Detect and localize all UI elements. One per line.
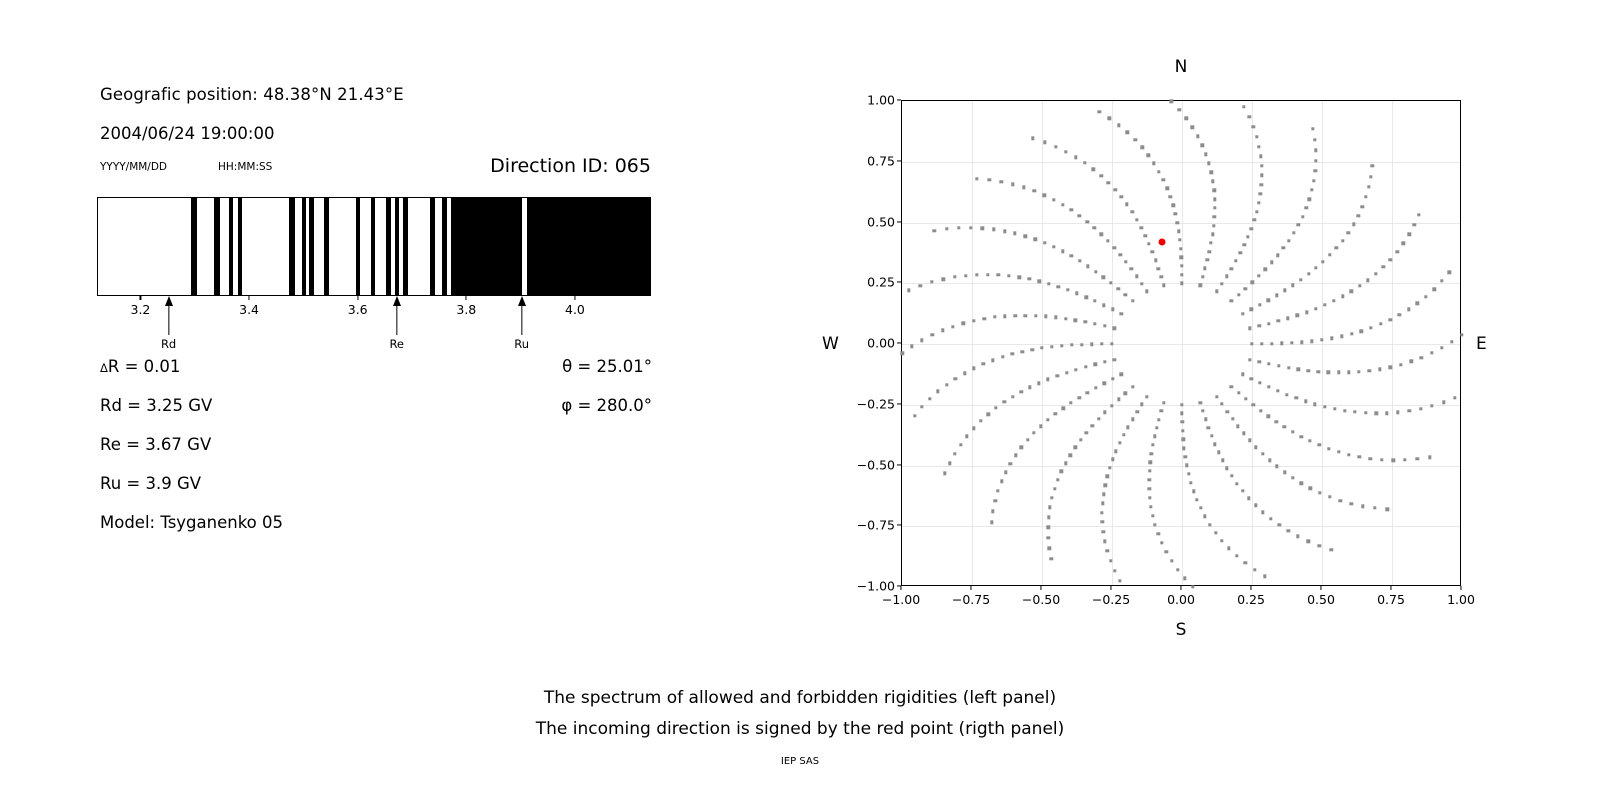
param-model: Model: Tsyganenko 05 <box>100 513 283 532</box>
direction-dot <box>1052 245 1055 248</box>
direction-dot <box>1140 282 1143 285</box>
direction-dot <box>1183 577 1186 580</box>
direction-dot <box>1070 343 1073 346</box>
direction-dot <box>1185 117 1188 120</box>
direction-dot <box>1028 386 1031 389</box>
direction-dot <box>1314 266 1317 269</box>
direction-dot <box>1314 169 1317 172</box>
direction-dot <box>1236 424 1239 427</box>
direction-dot <box>1250 377 1253 380</box>
arrow-shaft <box>168 305 169 335</box>
direction-dot <box>1170 99 1173 102</box>
direction-dot <box>1212 189 1215 192</box>
direction-dot <box>1270 342 1273 345</box>
direction-dot <box>1106 239 1109 242</box>
direction-dot <box>1337 450 1340 453</box>
direction-dot <box>1314 307 1317 310</box>
direction-dot <box>1239 251 1242 254</box>
direction-dot <box>1430 404 1433 407</box>
direction-dot <box>1102 382 1105 385</box>
direction-dot <box>994 406 997 409</box>
direction-dot <box>1307 369 1310 372</box>
direction-dot <box>1416 302 1419 305</box>
direction-dot <box>1148 487 1151 490</box>
direction-dot <box>1450 340 1453 343</box>
direction-dot <box>1208 523 1211 526</box>
direction-dot <box>1177 230 1180 233</box>
direction-dot <box>1069 401 1072 404</box>
direction-dot <box>1307 540 1310 543</box>
direction-map-y-tick-mark <box>897 403 901 404</box>
direction-dot <box>1250 342 1253 345</box>
direction-dot <box>969 226 972 229</box>
direction-dot <box>1176 221 1179 224</box>
direction-dot <box>1366 278 1369 281</box>
direction-dot <box>1111 308 1114 311</box>
direction-dot <box>1327 447 1330 450</box>
direction-dot <box>1165 187 1168 190</box>
direction-dot <box>1299 278 1302 281</box>
direction-dot <box>913 414 916 417</box>
direction-dot <box>1396 250 1399 253</box>
direction-dot <box>1389 258 1392 261</box>
direction-dot <box>972 319 975 322</box>
direction-dot <box>945 227 948 230</box>
direction-dot <box>1180 256 1183 259</box>
gridline-horizontal <box>902 344 1460 345</box>
direction-dot <box>1329 548 1332 551</box>
direction-dot <box>1114 449 1117 452</box>
direction-dot <box>1297 223 1300 226</box>
figure-canvas: Geografic position: 48.38°N 21.43°E 2004… <box>0 0 1600 800</box>
forbidden-band <box>430 198 434 295</box>
direction-map-y-tick-label: −0.25 <box>840 396 895 411</box>
direction-dot <box>1358 284 1361 287</box>
direction-dot <box>1261 452 1264 455</box>
direction-dot <box>1286 317 1289 320</box>
direction-dot <box>1183 455 1186 458</box>
direction-dot <box>1246 235 1249 238</box>
direction-dot <box>1318 544 1321 547</box>
direction-dot <box>1382 265 1385 268</box>
direction-dot <box>993 315 996 318</box>
direction-dot <box>1398 313 1401 316</box>
direction-dot <box>1220 539 1223 542</box>
direction-dot <box>1300 341 1303 344</box>
direction-id-label: Direction ID: 065 <box>490 155 651 177</box>
direction-dot <box>1043 241 1046 244</box>
param-delta-r: ΔR = 0.01 <box>100 357 180 376</box>
direction-dot <box>1424 295 1427 298</box>
direction-dot <box>1460 333 1463 336</box>
direction-dot <box>1244 561 1247 564</box>
direction-dot <box>1388 318 1391 321</box>
forbidden-band <box>309 198 313 295</box>
caption-line-1: The spectrum of allowed and forbidden ri… <box>0 688 1600 708</box>
direction-dot <box>1026 438 1029 441</box>
direction-dot <box>1257 145 1260 148</box>
direction-dot <box>1154 259 1157 262</box>
direction-dot <box>1369 326 1372 329</box>
direction-map-y-tick-mark <box>897 221 901 222</box>
direction-dot <box>1151 514 1154 517</box>
direction-dot <box>1330 337 1333 340</box>
direction-dot <box>1003 229 1006 232</box>
direction-dot <box>1185 464 1188 467</box>
direction-dot <box>1093 299 1096 302</box>
direction-dot <box>1032 431 1035 434</box>
direction-dot <box>1448 270 1451 273</box>
direction-dot <box>1247 497 1250 500</box>
gridline-vertical <box>1322 101 1323 585</box>
direction-dot <box>1065 371 1068 374</box>
direction-dot <box>1111 458 1114 461</box>
direction-dot <box>959 443 962 446</box>
direction-dot <box>1120 312 1123 315</box>
direction-dot <box>1320 338 1323 341</box>
direction-dot <box>1074 156 1077 159</box>
direction-dot <box>1285 393 1288 396</box>
direction-dot <box>1242 432 1245 435</box>
direction-dot <box>1043 141 1046 144</box>
direction-dot <box>1187 472 1190 475</box>
direction-dot <box>948 462 951 465</box>
direction-dot <box>1162 401 1165 404</box>
direction-dot <box>979 419 982 422</box>
direction-dot <box>919 284 922 287</box>
direction-dot <box>1108 117 1111 120</box>
direction-dot <box>1109 281 1112 284</box>
direction-dot <box>1318 443 1321 446</box>
direction-dot <box>1084 320 1087 323</box>
direction-dot <box>1333 407 1336 410</box>
direction-dot <box>1048 506 1051 509</box>
forbidden-band <box>356 198 360 295</box>
direction-dot <box>931 333 934 336</box>
direction-dot <box>1237 293 1240 296</box>
direction-dot <box>1120 195 1123 198</box>
direction-dot <box>1156 532 1159 535</box>
direction-dot <box>1100 511 1103 514</box>
direction-dot <box>1440 346 1443 349</box>
direction-dot <box>1140 146 1143 149</box>
direction-dot <box>972 367 975 370</box>
direction-dot <box>1283 425 1286 428</box>
forbidden-band <box>238 198 243 295</box>
direction-dot <box>1126 425 1129 428</box>
direction-dot <box>1180 264 1183 267</box>
direction-map-x-tick-label: 0.25 <box>1237 592 1265 607</box>
direction-dot <box>975 177 978 180</box>
direction-dot <box>1181 420 1184 423</box>
direction-dot <box>1120 373 1123 376</box>
direction-dot <box>1131 385 1134 388</box>
direction-dot <box>1357 214 1360 217</box>
direction-dot <box>1343 409 1346 412</box>
direction-dot <box>1094 386 1097 389</box>
direction-dot <box>1301 215 1304 218</box>
direction-dot <box>1054 316 1057 319</box>
direction-dot <box>1047 536 1050 539</box>
direction-dot <box>1259 409 1262 412</box>
direction-dot <box>1191 126 1194 129</box>
direction-dot <box>1100 342 1103 345</box>
direction-dot <box>1237 391 1240 394</box>
direction-dot <box>1078 214 1081 217</box>
direction-dot <box>1380 458 1383 461</box>
direction-dot <box>1102 276 1105 279</box>
direction-map-axes <box>901 100 1461 586</box>
direction-dot <box>1060 470 1063 473</box>
direction-dot <box>1064 461 1067 464</box>
direction-dot <box>1103 484 1106 487</box>
forbidden-band <box>527 198 651 295</box>
direction-dot <box>1260 183 1263 186</box>
direction-dot <box>1430 351 1433 354</box>
direction-map-y-tick-mark <box>897 160 901 161</box>
direction-dot <box>942 278 945 281</box>
direction-dot <box>1379 322 1382 325</box>
direction-dot <box>1106 549 1109 552</box>
direction-dot <box>1054 145 1057 148</box>
direction-dot <box>1047 516 1050 519</box>
direction-dot <box>975 273 978 276</box>
direction-map-y-tick-mark <box>897 282 901 283</box>
gridline-vertical <box>1042 101 1043 585</box>
direction-dot <box>1299 435 1302 438</box>
direction-dot <box>1304 400 1307 403</box>
direction-dot <box>1195 498 1198 501</box>
incoming-direction-point <box>1159 238 1166 245</box>
direction-dot <box>1242 105 1245 108</box>
direction-dot <box>1277 319 1280 322</box>
direction-dot <box>1054 412 1057 415</box>
direction-dot <box>1147 242 1150 245</box>
direction-dot <box>1213 206 1216 209</box>
direction-dot <box>1369 175 1372 178</box>
direction-dot <box>1145 290 1148 293</box>
direction-dot <box>964 274 967 277</box>
direction-map-x-tick-mark <box>900 586 901 590</box>
direction-dot <box>1148 469 1151 472</box>
direction-map-x-tick-mark <box>1180 586 1181 590</box>
direction-dot <box>957 226 960 229</box>
direction-dot <box>1280 342 1283 345</box>
direction-dot <box>1416 457 1419 460</box>
direction-dot <box>1174 212 1177 215</box>
direction-map-x-tick-label: −0.25 <box>1092 592 1130 607</box>
direction-dot <box>1214 531 1217 534</box>
direction-dot <box>991 358 994 361</box>
direction-dot <box>1321 260 1324 263</box>
direction-dot <box>1149 505 1152 508</box>
direction-dot <box>1113 246 1116 249</box>
direction-dot <box>992 228 995 231</box>
direction-dot <box>1254 504 1257 507</box>
direction-dot <box>1282 246 1285 249</box>
direction-dot <box>1199 506 1202 509</box>
direction-dot <box>1176 568 1179 571</box>
direction-dot <box>1361 205 1364 208</box>
direction-dot <box>920 405 923 408</box>
direction-dot <box>1230 474 1233 477</box>
direction-dot <box>954 377 957 380</box>
direction-dot <box>1117 398 1120 401</box>
direction-dot <box>1211 233 1214 236</box>
direction-dot <box>910 345 913 348</box>
forbidden-band <box>451 198 522 295</box>
direction-dot <box>1408 233 1411 236</box>
direction-dot <box>1413 223 1416 226</box>
direction-dot <box>993 499 996 502</box>
direction-dot <box>1283 471 1286 474</box>
direction-dot <box>1399 363 1402 366</box>
direction-dot <box>1157 267 1160 270</box>
direction-dot <box>1203 515 1206 518</box>
direction-dot <box>1180 412 1183 415</box>
direction-dot <box>1305 206 1308 209</box>
direction-dot <box>1220 402 1223 405</box>
direction-dot <box>1207 426 1210 429</box>
direction-dot <box>990 521 993 524</box>
direction-dot <box>1225 466 1228 469</box>
rigidity-spectrum-plot <box>97 197 651 296</box>
direction-dot <box>1350 502 1353 505</box>
rigidity-marker-label: Rd <box>161 337 176 351</box>
forbidden-band <box>442 198 446 295</box>
direction-dot <box>1310 340 1313 343</box>
direction-dot <box>941 329 944 332</box>
compass-north-label: N <box>1175 57 1188 77</box>
direction-map-y-tick-mark <box>897 99 901 100</box>
direction-dot <box>1113 188 1116 191</box>
direction-dot <box>1094 270 1097 273</box>
direction-dot <box>1061 203 1064 206</box>
direction-dot <box>1122 433 1125 436</box>
direction-dot <box>1234 259 1237 262</box>
direction-dot <box>1070 254 1073 257</box>
direction-dot <box>1314 159 1317 162</box>
direction-dot <box>1417 213 1420 216</box>
direction-dot <box>1100 232 1103 235</box>
direction-dot <box>1313 138 1316 141</box>
direction-dot <box>1113 569 1116 572</box>
direction-dot <box>1230 299 1233 302</box>
direction-dot <box>981 227 984 230</box>
direction-dot <box>1221 459 1224 462</box>
direction-dot <box>1248 439 1251 442</box>
time-format-hint: HH:MM:SS <box>218 161 272 173</box>
direction-dot <box>1080 343 1083 346</box>
direction-dot <box>1033 238 1036 241</box>
direction-dot <box>1312 179 1315 182</box>
direction-dot <box>1391 458 1394 461</box>
direction-dot <box>1014 454 1017 457</box>
direction-dot <box>1369 457 1372 460</box>
direction-dot <box>1291 430 1294 433</box>
direction-dot <box>1157 418 1160 421</box>
rigidity-marker-arrows: RdReRu <box>97 296 651 356</box>
direction-dot <box>945 383 948 386</box>
direction-dot <box>1170 559 1173 562</box>
direction-dot <box>982 362 985 365</box>
direction-dot <box>1131 418 1134 421</box>
direction-dot <box>1403 458 1406 461</box>
direction-dot <box>1033 189 1036 192</box>
direction-dot <box>1327 370 1330 373</box>
direction-dot <box>982 317 985 320</box>
direction-dot <box>1086 391 1089 394</box>
direction-dot <box>1241 489 1244 492</box>
direction-dot <box>1135 275 1138 278</box>
direction-dot <box>1353 410 1356 413</box>
direction-map-x-tick-label: 0.00 <box>1167 592 1195 607</box>
direction-dot <box>1004 471 1007 474</box>
direction-dot <box>1453 396 1456 399</box>
direction-dot <box>1060 344 1063 347</box>
direction-dot <box>1007 274 1010 277</box>
direction-dot <box>1408 409 1411 412</box>
direction-dot <box>1162 178 1165 181</box>
direction-dot <box>1386 507 1389 510</box>
direction-dot <box>1118 441 1121 444</box>
direction-dot <box>1050 345 1053 348</box>
direction-dot <box>1217 451 1220 454</box>
direction-dot <box>1011 352 1014 355</box>
direction-dot <box>1268 459 1271 462</box>
direction-dot <box>1110 404 1113 407</box>
direction-dot <box>1290 341 1293 344</box>
direction-dot <box>1328 495 1331 498</box>
direction-dot <box>1160 541 1163 544</box>
direction-dot <box>1243 243 1246 246</box>
direction-map-x-tick-mark <box>1460 586 1461 590</box>
direction-dot <box>1254 445 1257 448</box>
direction-dot <box>1269 517 1272 520</box>
direction-dot <box>1358 455 1361 458</box>
arrow-shaft <box>396 305 397 335</box>
direction-dot <box>1323 303 1326 306</box>
direction-map-y-tick-label: 0.75 <box>840 153 895 168</box>
direction-dot <box>1102 492 1105 495</box>
param-theta: θ = 25.01° <box>562 357 652 376</box>
direction-dot <box>1117 123 1120 126</box>
direction-dot <box>1130 267 1133 270</box>
direction-dot <box>1339 499 1342 502</box>
direction-dot <box>1191 585 1194 588</box>
direction-dot <box>1347 371 1350 374</box>
direction-dot <box>1013 232 1016 235</box>
direction-dot <box>1034 314 1037 317</box>
direction-dot <box>1013 314 1016 317</box>
direction-dot <box>1200 143 1203 146</box>
direction-dot <box>1044 315 1047 318</box>
param-re: Re = 3.67 GV <box>100 435 211 454</box>
direction-dot <box>1251 403 1254 406</box>
direction-dot <box>1057 285 1060 288</box>
direction-dot <box>933 229 936 232</box>
direction-dot <box>1270 261 1273 264</box>
direction-dot <box>1213 442 1216 445</box>
direction-dot <box>1022 186 1025 189</box>
footer-label: IEP SAS <box>0 756 1600 767</box>
direction-dot <box>1300 482 1303 485</box>
direction-dot <box>1093 322 1096 325</box>
direction-dot <box>1296 314 1299 317</box>
direction-map-x-tick-mark <box>970 586 971 590</box>
direction-dot <box>1140 402 1143 405</box>
right-panel: −1.00−0.75−0.50−0.250.000.250.500.751.00… <box>800 0 1600 670</box>
